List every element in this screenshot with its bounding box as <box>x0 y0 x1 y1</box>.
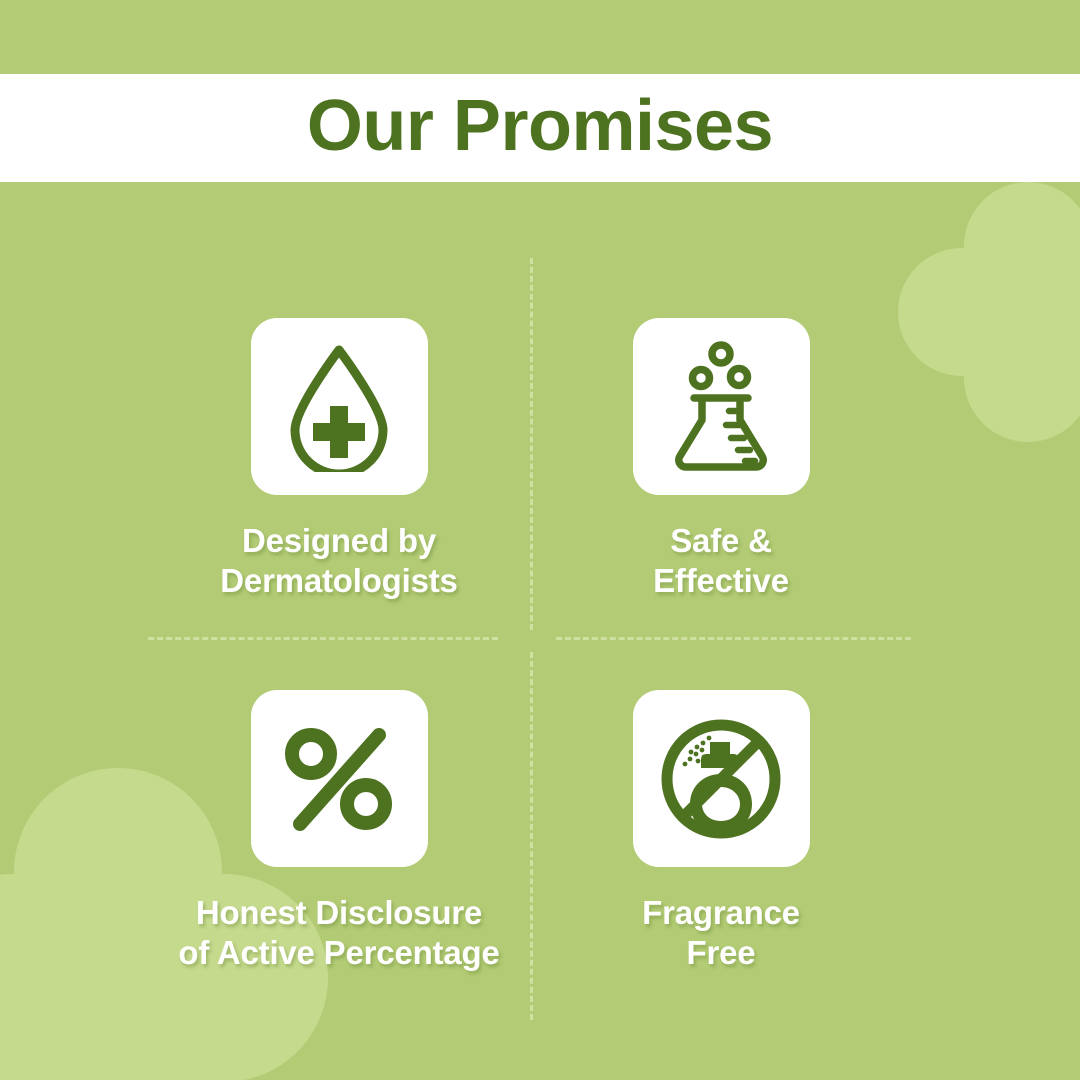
no-perfume-icon <box>658 716 784 842</box>
promise-item-safe-and-effective: Safe & Effective <box>511 318 931 600</box>
promise-item-designed-by-dermatologists: Designed by Dermatologists <box>129 318 549 600</box>
promise-item-fragrance-free: Fragrance Free <box>511 690 931 972</box>
promise-label: Designed by Dermatologists <box>220 521 457 600</box>
page-title: Our Promises <box>307 90 773 162</box>
percent-icon <box>283 727 395 831</box>
promise-label: Honest Disclosure of Active Percentage <box>178 893 499 972</box>
icon-card <box>251 690 428 867</box>
promises-graphic: Our Promises Designed by Dermatologists <box>0 0 1080 1080</box>
promise-label: Fragrance Free <box>642 893 800 972</box>
icon-card <box>251 318 428 495</box>
droplet-plus-icon <box>279 342 399 472</box>
promise-label: Safe & Effective <box>653 521 789 600</box>
icon-card <box>633 318 810 495</box>
flask-bubbles-icon <box>661 341 781 473</box>
promises-grid: Designed by Dermatologists <box>0 182 1080 1080</box>
header-bar: Our Promises <box>0 74 1080 182</box>
top-green-band <box>0 0 1080 74</box>
promise-item-honest-disclosure: Honest Disclosure of Active Percentage <box>129 690 549 972</box>
icon-card <box>633 690 810 867</box>
